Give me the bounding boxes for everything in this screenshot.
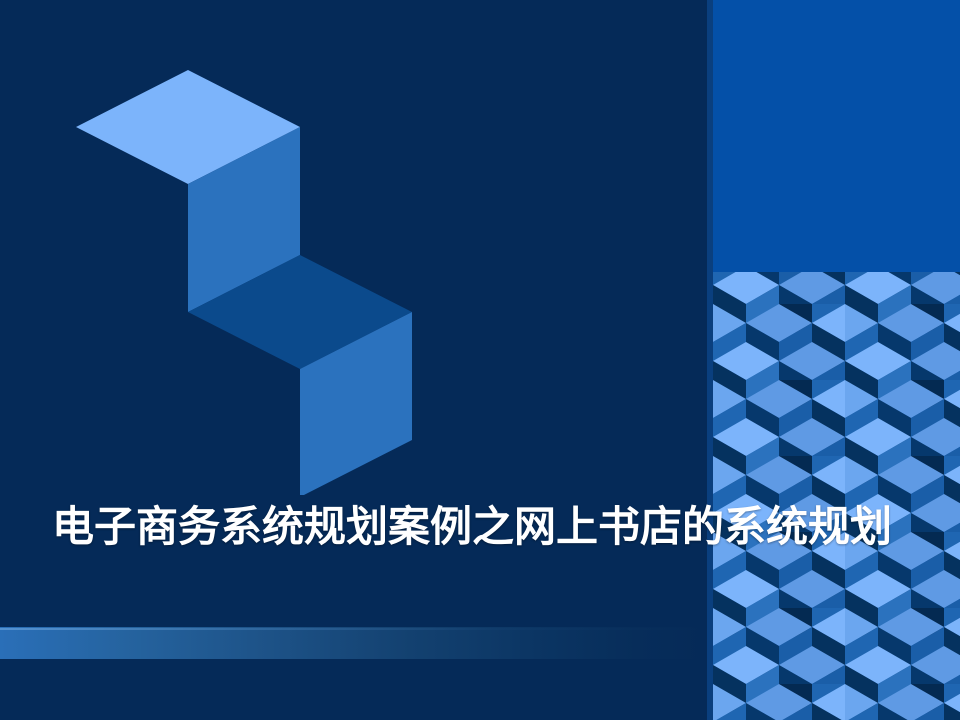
isometric-logo-graphic bbox=[60, 55, 440, 495]
cube-tessellation-graphic bbox=[713, 0, 960, 720]
pattern-top-mask bbox=[713, 258, 960, 272]
isometric-logo bbox=[60, 55, 440, 495]
slide-canvas: 电子商务系统规划案例之网上书店的系统规划 bbox=[0, 0, 960, 720]
accent-band bbox=[0, 627, 707, 659]
slide-title: 电子商务系统规划案例之网上书店的系统规划 bbox=[52, 500, 922, 554]
cube-pattern-panel bbox=[713, 0, 960, 720]
panel-solid-top bbox=[713, 0, 960, 270]
cube-field bbox=[713, 258, 960, 720]
accent-band-highlight bbox=[0, 628, 707, 630]
